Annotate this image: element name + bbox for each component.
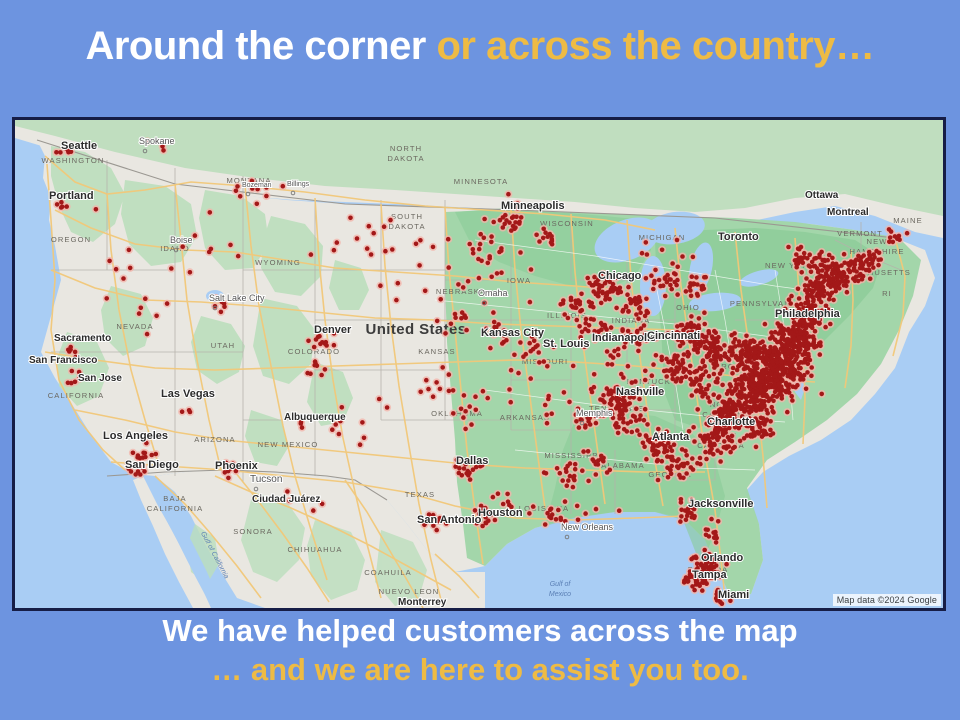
customer-marker[interactable] xyxy=(676,457,681,462)
customer-marker[interactable] xyxy=(618,286,623,291)
customer-marker[interactable] xyxy=(499,270,504,275)
customer-marker[interactable] xyxy=(473,508,478,513)
customer-marker[interactable] xyxy=(602,400,607,405)
customer-marker[interactable] xyxy=(735,356,740,361)
customer-marker[interactable] xyxy=(861,274,866,279)
customer-marker[interactable] xyxy=(785,344,790,349)
customer-marker[interactable] xyxy=(700,588,705,593)
customer-marker[interactable] xyxy=(486,518,491,523)
customer-marker[interactable] xyxy=(632,299,637,304)
customer-marker[interactable] xyxy=(740,383,745,388)
customer-marker[interactable] xyxy=(423,289,428,294)
customer-marker[interactable] xyxy=(64,204,69,209)
customer-marker[interactable] xyxy=(637,306,642,311)
customer-marker[interactable] xyxy=(451,411,456,416)
customer-marker[interactable] xyxy=(665,280,670,285)
customer-marker[interactable] xyxy=(737,339,742,344)
customer-marker[interactable] xyxy=(114,267,119,272)
customer-marker[interactable] xyxy=(762,344,767,349)
customer-marker[interactable] xyxy=(588,304,593,309)
customer-marker[interactable] xyxy=(107,259,112,264)
customer-marker[interactable] xyxy=(813,264,818,269)
customer-marker[interactable] xyxy=(506,499,511,504)
customer-marker[interactable] xyxy=(706,433,711,438)
customer-marker[interactable] xyxy=(822,264,827,269)
customer-marker[interactable] xyxy=(668,455,673,460)
customer-marker[interactable] xyxy=(491,310,496,315)
customer-marker[interactable] xyxy=(689,465,694,470)
customer-marker[interactable] xyxy=(585,276,590,281)
customer-marker[interactable] xyxy=(688,364,693,369)
customer-marker[interactable] xyxy=(633,379,638,384)
customer-marker[interactable] xyxy=(611,355,616,360)
customer-marker[interactable] xyxy=(738,439,743,444)
customer-marker[interactable] xyxy=(541,236,546,241)
customer-marker[interactable] xyxy=(760,421,765,426)
customer-marker[interactable] xyxy=(476,257,481,262)
customer-marker[interactable] xyxy=(669,287,674,292)
customer-marker[interactable] xyxy=(571,485,576,490)
customer-marker[interactable] xyxy=(865,258,870,263)
customer-marker[interactable] xyxy=(634,312,639,317)
customer-marker[interactable] xyxy=(550,239,555,244)
customer-marker[interactable] xyxy=(319,373,324,378)
customer-marker[interactable] xyxy=(607,391,612,396)
customer-marker[interactable] xyxy=(810,295,815,300)
customer-marker[interactable] xyxy=(645,422,650,427)
customer-marker[interactable] xyxy=(731,389,736,394)
customer-marker[interactable] xyxy=(482,217,487,222)
customer-marker[interactable] xyxy=(340,405,345,410)
customer-marker[interactable] xyxy=(682,352,687,357)
customer-marker[interactable] xyxy=(488,346,493,351)
customer-marker[interactable] xyxy=(453,312,458,317)
customer-marker[interactable] xyxy=(691,255,696,260)
customer-marker[interactable] xyxy=(787,369,792,374)
customer-marker[interactable] xyxy=(626,364,631,369)
customer-marker[interactable] xyxy=(649,273,654,278)
map-canvas[interactable]: WASHINGTON OREGON IDAHO MONTANA WYOMING … xyxy=(15,120,943,608)
customer-marker[interactable] xyxy=(848,270,853,275)
customer-marker[interactable] xyxy=(719,354,724,359)
customer-marker[interactable] xyxy=(222,304,227,309)
customer-marker[interactable] xyxy=(489,275,494,280)
customer-marker[interactable] xyxy=(835,280,840,285)
customer-marker[interactable] xyxy=(758,350,763,355)
customer-marker[interactable] xyxy=(797,296,802,301)
customer-marker[interactable] xyxy=(730,405,735,410)
customer-marker[interactable] xyxy=(638,310,643,315)
customer-marker[interactable] xyxy=(543,403,548,408)
customer-marker[interactable] xyxy=(414,242,419,247)
customer-marker[interactable] xyxy=(775,394,780,399)
customer-marker[interactable] xyxy=(786,245,791,250)
customer-marker[interactable] xyxy=(621,308,626,313)
customer-marker[interactable] xyxy=(418,390,423,395)
customer-marker[interactable] xyxy=(459,407,464,412)
customer-marker[interactable] xyxy=(456,282,461,287)
customer-marker[interactable] xyxy=(849,259,854,264)
customer-marker[interactable] xyxy=(809,270,814,275)
customer-marker[interactable] xyxy=(803,301,808,306)
customer-marker[interactable] xyxy=(722,343,727,348)
customer-marker[interactable] xyxy=(517,220,522,225)
customer-marker[interactable] xyxy=(659,355,664,360)
customer-marker[interactable] xyxy=(764,362,769,367)
customer-marker[interactable] xyxy=(692,439,697,444)
customer-marker[interactable] xyxy=(797,346,802,351)
customer-marker[interactable] xyxy=(599,321,604,326)
customer-marker[interactable] xyxy=(669,472,674,477)
customer-marker[interactable] xyxy=(537,239,542,244)
customer-marker[interactable] xyxy=(594,421,599,426)
customer-marker[interactable] xyxy=(362,436,367,441)
customer-marker[interactable] xyxy=(417,263,422,268)
customer-marker[interactable] xyxy=(761,405,766,410)
customer-marker[interactable] xyxy=(667,369,672,374)
customer-marker[interactable] xyxy=(744,334,749,339)
customer-marker[interactable] xyxy=(701,373,706,378)
customer-marker[interactable] xyxy=(748,339,753,344)
customer-marker[interactable] xyxy=(812,341,817,346)
customer-marker[interactable] xyxy=(161,148,166,153)
customer-marker[interactable] xyxy=(612,349,617,354)
customer-marker[interactable] xyxy=(320,502,325,507)
customer-marker[interactable] xyxy=(332,343,337,348)
customer-marker[interactable] xyxy=(670,261,675,266)
customer-marker[interactable] xyxy=(730,371,735,376)
customer-marker[interactable] xyxy=(812,256,817,261)
customer-marker[interactable] xyxy=(550,512,555,517)
customer-marker[interactable] xyxy=(639,326,644,331)
customer-marker[interactable] xyxy=(799,270,804,275)
customer-marker[interactable] xyxy=(845,275,850,280)
customer-marker[interactable] xyxy=(431,394,436,399)
customer-marker[interactable] xyxy=(604,294,609,299)
customer-marker[interactable] xyxy=(312,345,317,350)
customer-marker[interactable] xyxy=(897,237,902,242)
customer-marker[interactable] xyxy=(537,360,542,365)
customer-marker[interactable] xyxy=(554,517,559,522)
customer-marker[interactable] xyxy=(461,285,466,290)
customer-marker[interactable] xyxy=(692,370,697,375)
customer-marker[interactable] xyxy=(566,478,571,483)
customer-marker[interactable] xyxy=(707,534,712,539)
customer-marker[interactable] xyxy=(496,491,501,496)
customer-marker[interactable] xyxy=(760,400,765,405)
customer-marker[interactable] xyxy=(691,425,696,430)
customer-marker[interactable] xyxy=(686,579,691,584)
customer-marker[interactable] xyxy=(861,253,866,258)
customer-marker[interactable] xyxy=(482,236,487,241)
customer-marker[interactable] xyxy=(558,471,563,476)
customer-marker[interactable] xyxy=(703,275,708,280)
customer-marker[interactable] xyxy=(621,420,626,425)
customer-marker[interactable] xyxy=(396,281,401,286)
customer-marker[interactable] xyxy=(637,417,642,422)
customer-marker[interactable] xyxy=(804,346,809,351)
customer-marker[interactable] xyxy=(779,360,784,365)
customer-marker[interactable] xyxy=(605,362,610,367)
customer-marker[interactable] xyxy=(748,368,753,373)
customer-marker[interactable] xyxy=(462,313,467,318)
customer-marker[interactable] xyxy=(656,478,661,483)
customer-marker[interactable] xyxy=(149,453,154,458)
customer-marker[interactable] xyxy=(518,340,523,345)
customer-marker[interactable] xyxy=(619,372,624,377)
customer-marker[interactable] xyxy=(481,389,486,394)
customer-marker[interactable] xyxy=(707,383,712,388)
customer-marker[interactable] xyxy=(773,330,778,335)
customer-marker[interactable] xyxy=(748,356,753,361)
customer-marker[interactable] xyxy=(710,334,715,339)
customer-marker[interactable] xyxy=(670,377,675,382)
customer-marker[interactable] xyxy=(54,150,59,155)
customer-marker[interactable] xyxy=(541,227,546,232)
customer-marker[interactable] xyxy=(121,276,126,281)
customer-marker[interactable] xyxy=(576,298,581,303)
customer-marker[interactable] xyxy=(498,218,503,223)
customer-marker[interactable] xyxy=(143,296,148,301)
customer-marker[interactable] xyxy=(690,456,695,461)
customer-marker[interactable] xyxy=(365,246,370,251)
customer-marker[interactable] xyxy=(569,296,574,301)
customer-marker[interactable] xyxy=(712,410,717,415)
customer-marker[interactable] xyxy=(438,297,443,302)
customer-marker[interactable] xyxy=(600,284,605,289)
customer-marker[interactable] xyxy=(435,319,440,324)
customer-marker[interactable] xyxy=(760,339,765,344)
customer-marker[interactable] xyxy=(572,478,577,483)
customer-marker[interactable] xyxy=(474,408,479,413)
customer-marker[interactable] xyxy=(770,405,775,410)
customer-marker[interactable] xyxy=(684,471,689,476)
customer-marker[interactable] xyxy=(806,352,811,357)
customer-marker[interactable] xyxy=(462,393,467,398)
customer-marker[interactable] xyxy=(180,409,185,414)
customer-marker[interactable] xyxy=(592,372,597,377)
customer-marker[interactable] xyxy=(355,236,360,241)
customer-marker[interactable] xyxy=(742,436,747,441)
customer-marker[interactable] xyxy=(762,391,767,396)
customer-marker[interactable] xyxy=(703,344,708,349)
customer-marker[interactable] xyxy=(722,445,727,450)
customer-marker[interactable] xyxy=(670,448,675,453)
customer-marker[interactable] xyxy=(807,323,812,328)
customer-marker[interactable] xyxy=(504,218,509,223)
customer-marker[interactable] xyxy=(665,273,670,278)
customer-marker[interactable] xyxy=(434,528,439,533)
customer-marker[interactable] xyxy=(545,234,550,239)
customer-marker[interactable] xyxy=(666,475,671,480)
customer-marker[interactable] xyxy=(616,291,621,296)
customer-marker[interactable] xyxy=(565,464,570,469)
customer-marker[interactable] xyxy=(264,194,269,199)
customer-marker[interactable] xyxy=(505,492,510,497)
customer-marker[interactable] xyxy=(712,372,717,377)
customer-marker[interactable] xyxy=(819,282,824,287)
customer-marker[interactable] xyxy=(477,276,482,281)
customer-marker[interactable] xyxy=(471,467,476,472)
customer-marker[interactable] xyxy=(755,366,760,371)
customer-marker[interactable] xyxy=(599,301,604,306)
customer-marker[interactable] xyxy=(802,251,807,256)
customer-marker[interactable] xyxy=(675,265,680,270)
customer-marker[interactable] xyxy=(712,365,717,370)
customer-marker[interactable] xyxy=(137,311,142,316)
customer-marker[interactable] xyxy=(622,345,627,350)
customer-marker[interactable] xyxy=(463,409,468,414)
customer-marker[interactable] xyxy=(675,238,680,243)
customer-marker[interactable] xyxy=(771,399,776,404)
customer-marker[interactable] xyxy=(426,387,431,392)
customer-marker[interactable] xyxy=(695,282,700,287)
customer-marker[interactable] xyxy=(583,511,588,516)
customer-marker[interactable] xyxy=(703,392,708,397)
customer-marker[interactable] xyxy=(568,474,573,479)
customer-marker[interactable] xyxy=(614,306,619,311)
customer-marker[interactable] xyxy=(509,368,514,373)
customer-marker[interactable] xyxy=(680,358,685,363)
customer-marker[interactable] xyxy=(753,404,758,409)
customer-marker[interactable] xyxy=(496,322,501,327)
customer-marker[interactable] xyxy=(754,445,759,450)
customer-marker[interactable] xyxy=(443,331,448,336)
customer-marker[interactable] xyxy=(689,557,694,562)
customer-marker[interactable] xyxy=(512,353,517,358)
customer-marker[interactable] xyxy=(744,366,749,371)
customer-marker[interactable] xyxy=(739,376,744,381)
customer-marker[interactable] xyxy=(235,184,240,189)
customer-marker[interactable] xyxy=(707,374,712,379)
customer-marker[interactable] xyxy=(637,296,642,301)
customer-marker[interactable] xyxy=(689,294,694,299)
customer-marker[interactable] xyxy=(583,321,588,326)
customer-marker[interactable] xyxy=(739,351,744,356)
customer-marker[interactable] xyxy=(571,364,576,369)
customer-marker[interactable] xyxy=(801,377,806,382)
customer-marker[interactable] xyxy=(388,218,393,223)
customer-marker[interactable] xyxy=(805,291,810,296)
customer-marker[interactable] xyxy=(489,240,494,245)
customer-marker[interactable] xyxy=(348,216,353,221)
customer-marker[interactable] xyxy=(777,382,782,387)
customer-marker[interactable] xyxy=(335,240,340,245)
customer-marker[interactable] xyxy=(773,374,778,379)
customer-marker[interactable] xyxy=(461,415,466,420)
customer-marker[interactable] xyxy=(804,387,809,392)
customer-marker[interactable] xyxy=(378,283,383,288)
customer-marker[interactable] xyxy=(742,340,747,345)
customer-marker[interactable] xyxy=(888,235,893,240)
customer-marker[interactable] xyxy=(680,254,685,259)
customer-marker[interactable] xyxy=(793,337,798,342)
customer-marker[interactable] xyxy=(693,554,698,559)
customer-marker[interactable] xyxy=(193,233,198,238)
customer-marker[interactable] xyxy=(592,275,597,280)
customer-marker[interactable] xyxy=(491,495,496,500)
customer-marker[interactable] xyxy=(731,366,736,371)
customer-marker[interactable] xyxy=(601,393,606,398)
customer-marker[interactable] xyxy=(653,268,658,273)
customer-marker[interactable] xyxy=(626,309,631,314)
customer-marker[interactable] xyxy=(702,439,707,444)
customer-marker[interactable] xyxy=(655,459,660,464)
customer-marker[interactable] xyxy=(634,407,639,412)
customer-marker[interactable] xyxy=(668,359,673,364)
customer-marker[interactable] xyxy=(713,428,718,433)
customer-marker[interactable] xyxy=(59,205,64,210)
customer-marker[interactable] xyxy=(689,382,694,387)
customer-marker[interactable] xyxy=(702,310,707,315)
customer-marker[interactable] xyxy=(531,504,536,509)
customer-marker[interactable] xyxy=(545,421,550,426)
customer-marker[interactable] xyxy=(702,322,707,327)
customer-marker[interactable] xyxy=(718,459,723,464)
customer-marker[interactable] xyxy=(377,397,382,402)
customer-marker[interactable] xyxy=(789,294,794,299)
customer-marker[interactable] xyxy=(689,314,694,319)
customer-marker[interactable] xyxy=(609,398,614,403)
customer-marker[interactable] xyxy=(779,364,784,369)
customer-marker[interactable] xyxy=(451,388,456,393)
customer-marker[interactable] xyxy=(500,341,505,346)
customer-marker[interactable] xyxy=(600,291,605,296)
customer-marker[interactable] xyxy=(486,261,491,266)
customer-marker[interactable] xyxy=(791,324,796,329)
customer-marker[interactable] xyxy=(594,472,599,477)
customer-marker[interactable] xyxy=(685,510,690,515)
customer-marker[interactable] xyxy=(808,358,813,363)
customer-marker[interactable] xyxy=(806,341,811,346)
customer-marker[interactable] xyxy=(753,354,758,359)
customer-marker[interactable] xyxy=(828,322,833,327)
customer-marker[interactable] xyxy=(544,413,549,418)
customer-marker[interactable] xyxy=(424,378,429,383)
customer-marker[interactable] xyxy=(874,249,879,254)
customer-marker[interactable] xyxy=(682,580,687,585)
customer-marker[interactable] xyxy=(642,444,647,449)
customer-marker[interactable] xyxy=(255,202,260,207)
customer-marker[interactable] xyxy=(709,341,714,346)
customer-marker[interactable] xyxy=(781,336,786,341)
customer-marker[interactable] xyxy=(587,281,592,286)
customer-marker[interactable] xyxy=(768,428,773,433)
customer-marker[interactable] xyxy=(511,224,516,229)
customer-marker[interactable] xyxy=(509,228,514,233)
customer-marker[interactable] xyxy=(690,515,695,520)
customer-marker[interactable] xyxy=(467,404,472,409)
customer-marker[interactable] xyxy=(740,362,745,367)
customer-marker[interactable] xyxy=(449,322,454,327)
customer-marker[interactable] xyxy=(827,297,832,302)
customer-marker[interactable] xyxy=(742,407,747,412)
customer-marker[interactable] xyxy=(330,427,335,432)
customer-marker[interactable] xyxy=(786,374,791,379)
customer-marker[interactable] xyxy=(887,240,892,245)
customer-marker[interactable] xyxy=(577,425,582,430)
customer-marker[interactable] xyxy=(712,536,717,541)
customer-marker[interactable] xyxy=(383,249,388,254)
customer-marker[interactable] xyxy=(720,383,725,388)
customer-marker[interactable] xyxy=(726,444,731,449)
customer-marker[interactable] xyxy=(55,202,60,207)
customer-marker[interactable] xyxy=(499,246,504,251)
customer-marker[interactable] xyxy=(695,461,700,466)
customer-marker[interactable] xyxy=(727,438,732,443)
customer-marker[interactable] xyxy=(768,364,773,369)
customer-marker[interactable] xyxy=(560,478,565,483)
